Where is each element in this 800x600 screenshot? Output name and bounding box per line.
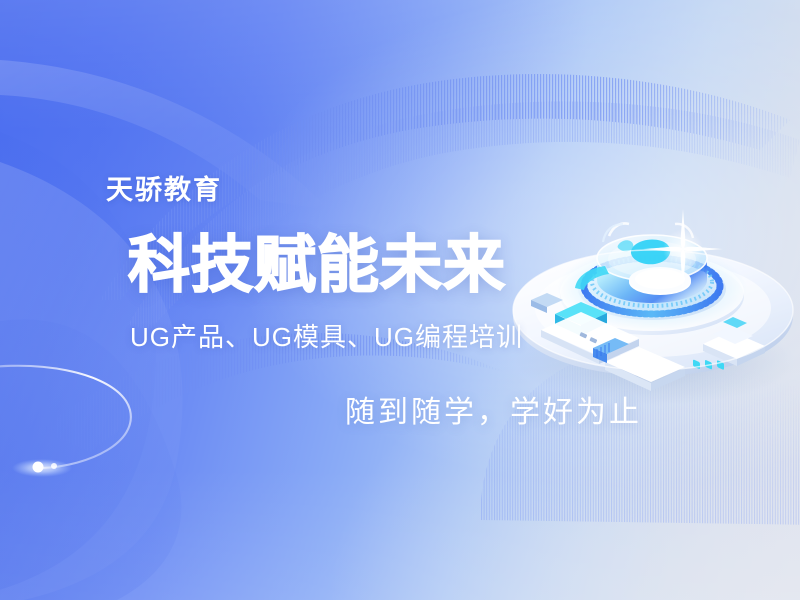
promo-banner: 天骄教育 科技赋能未来 UG产品、UG模具、UG编程培训 随到随学，学好为止 — [0, 0, 800, 600]
subtitle-text: UG产品、UG模具、UG编程培训 — [130, 322, 523, 353]
copy-block: 天骄教育 科技赋能未来 UG产品、UG模具、UG编程培训 随到随学，学好为止 — [0, 0, 800, 600]
brand-name: 天骄教育 — [106, 177, 222, 204]
headline-text: 科技赋能未来 — [128, 234, 506, 297]
tagline-text: 随到随学，学好为止 — [345, 395, 642, 431]
